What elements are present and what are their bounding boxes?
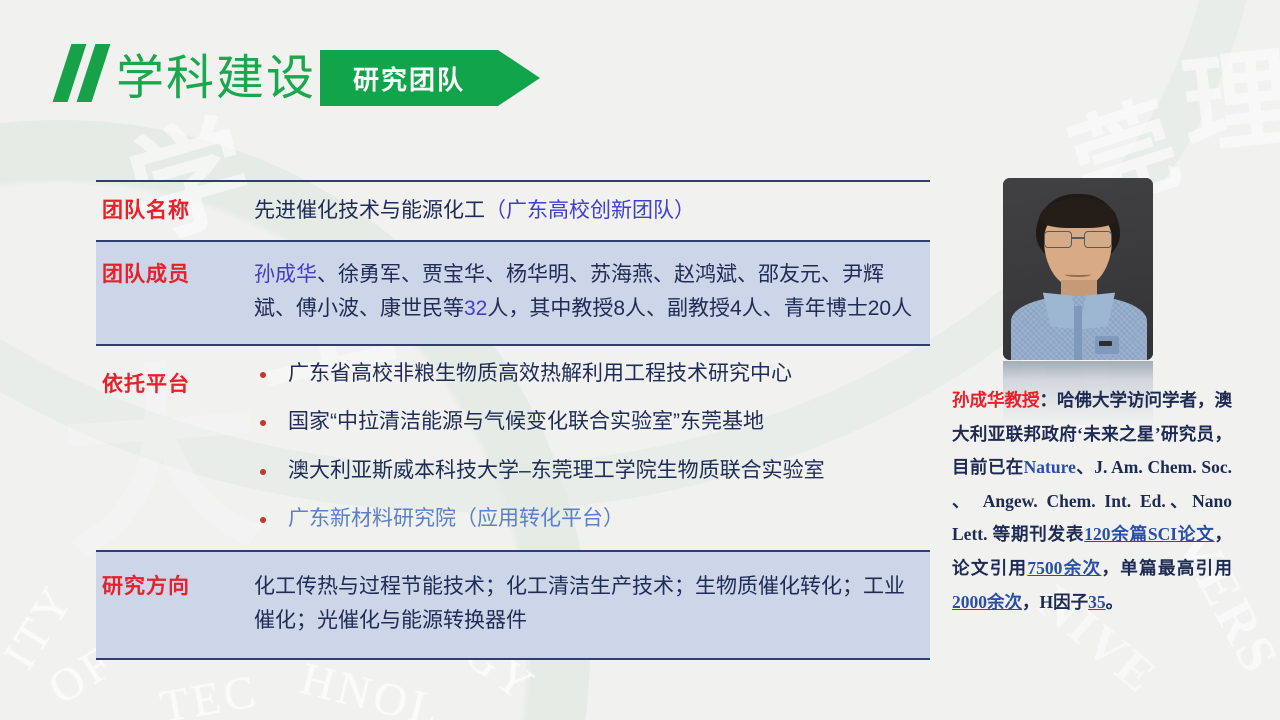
list-item: 广东省高校非粮生物质高效热解利用工程技术研究中心 bbox=[254, 360, 920, 387]
journal-nature: Nature bbox=[1024, 457, 1076, 477]
double-slash-icon bbox=[62, 44, 120, 102]
glasses-icon bbox=[1043, 231, 1113, 247]
stat-h-index: 35 bbox=[1088, 592, 1106, 612]
glasses-lens-left bbox=[1044, 231, 1072, 248]
arrow-banner-tip-icon bbox=[498, 50, 540, 106]
team-name-main: 先进催化技术与能源化工 bbox=[254, 199, 485, 222]
row-value-team-members: 孙成华、徐勇军、贾宝华、杨华明、苏海燕、赵鸿斌、邵友元、尹辉斌、傅小波、康世民等… bbox=[254, 242, 930, 344]
seal-word-4: HNOL bbox=[296, 651, 448, 720]
row-value-team-name: 先进催化技术与能源化工（广东高校创新团队） bbox=[254, 182, 930, 240]
member-lead-name: 孙成华 bbox=[254, 263, 317, 286]
glasses-bridge bbox=[1071, 237, 1085, 239]
table-row-platforms: 依托平台 广东省高校非粮生物质高效热解利用工程技术研究中心 国家“中拉清洁能源与… bbox=[96, 344, 930, 550]
row-label-platforms: 依托平台 bbox=[96, 346, 254, 416]
slide-header: 学科建设 研究团队 bbox=[0, 0, 1280, 140]
table-row-team-members: 团队成员 孙成华、徐勇军、贾宝华、杨华明、苏海燕、赵鸿斌、邵友元、尹辉斌、傅小波… bbox=[96, 240, 930, 344]
list-item: 广东新材料研究院（应用转化平台） bbox=[254, 505, 920, 532]
profile-bio: 孙成华教授：哈佛大学访问学者，澳大利亚联邦政府‘未来之星’研究员，目前已在Nat… bbox=[952, 384, 1232, 619]
team-name-highlight: （广东高校创新团队） bbox=[485, 199, 695, 222]
seal-word-3: TEC bbox=[156, 664, 263, 720]
bio-part-6: 。 bbox=[1106, 592, 1124, 612]
platform-list: 广东省高校非粮生物质高效热解利用工程技术研究中心 国家“中拉清洁能源与气候变化联… bbox=[254, 360, 920, 532]
stat-citations: 7500余次 bbox=[1027, 558, 1101, 578]
glasses-lens-right bbox=[1084, 231, 1112, 248]
profile-colon: ： bbox=[1040, 390, 1058, 410]
photo-shirt-placket bbox=[1074, 306, 1082, 360]
bio-part-2: 等期刊发表 bbox=[987, 524, 1084, 544]
section-arrow-banner: 研究团队 bbox=[320, 50, 540, 106]
row-value-research-directions: 化工传热与过程节能技术；化工清洁生产技术；生物质催化转化；工业催化；光催化与能源… bbox=[254, 552, 930, 658]
bio-sep-1: 、 bbox=[1076, 457, 1094, 477]
arrow-banner-label: 研究团队 bbox=[320, 50, 498, 106]
profile-name: 孙成华教授 bbox=[952, 390, 1040, 410]
photo-mouth bbox=[1065, 270, 1091, 277]
slide-root: ITY OF TEC HNOL OGY 学 莞 理 工 大 D VERS NIV… bbox=[0, 0, 1280, 720]
bio-part-5: ，H因子 bbox=[1022, 592, 1088, 612]
member-tail: 人，其中教授8人、副教授4人、青年博士20人 bbox=[487, 297, 912, 320]
list-item: 国家“中拉清洁能源与气候变化联合实验室”东莞基地 bbox=[254, 408, 920, 435]
list-item: 澳大利亚斯威本科技大学–东莞理工学院生物质联合实验室 bbox=[254, 457, 920, 484]
table-row-team-name: 团队名称 先进催化技术与能源化工（广东高校创新团队） bbox=[96, 180, 930, 240]
stat-papers: 120余篇SCI论文 bbox=[1084, 524, 1214, 544]
stat-max-citation: 2000余次 bbox=[952, 592, 1022, 612]
row-value-platforms: 广东省高校非粮生物质高效热解利用工程技术研究中心 国家“中拉清洁能源与气候变化联… bbox=[254, 346, 930, 550]
table-row-research-directions: 研究方向 化工传热与过程节能技术；化工清洁生产技术；生物质催化转化；工业催化；光… bbox=[96, 550, 930, 660]
bio-part-4: ，单篇最高引用 bbox=[1101, 558, 1232, 578]
photo-shirt-pocket bbox=[1095, 336, 1119, 354]
row-label-team-name: 团队名称 bbox=[96, 182, 254, 240]
row-label-research-directions: 研究方向 bbox=[96, 552, 254, 618]
team-info-table: 团队名称 先进催化技术与能源化工（广东高校创新团队） 团队成员 孙成华、徐勇军、… bbox=[96, 180, 930, 660]
page-title: 学科建设 bbox=[116, 38, 316, 108]
row-label-team-members: 团队成员 bbox=[96, 242, 254, 306]
avatar bbox=[1003, 178, 1153, 360]
member-count: 32 bbox=[464, 297, 487, 320]
seal-word-1: ITY bbox=[0, 575, 84, 678]
